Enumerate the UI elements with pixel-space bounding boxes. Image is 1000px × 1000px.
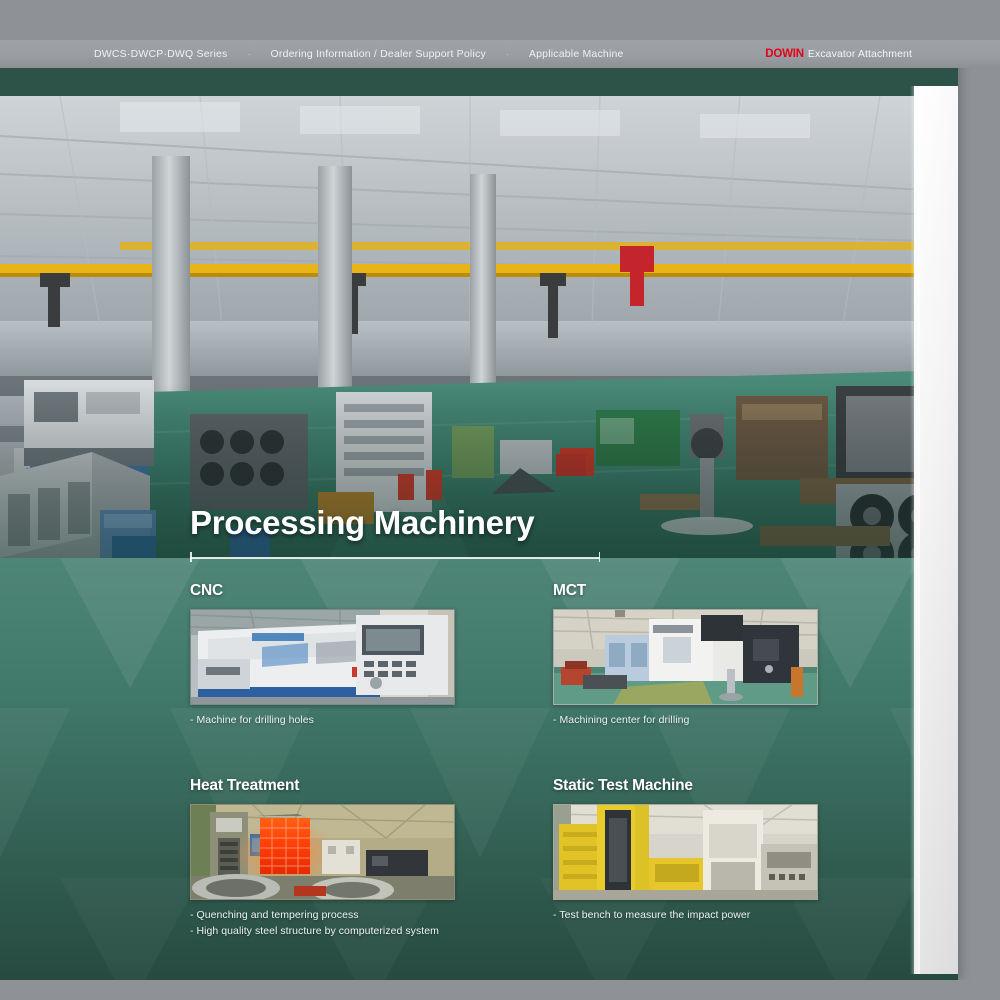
caption-line: - Machining center for drilling [553,712,818,728]
card-cnc: CNC [190,582,455,728]
canvas-top-margin [0,0,1000,40]
card-title: CNC [190,582,455,600]
machining-center-illustration [553,609,818,705]
card-caption: - Test bench to measure the impact power [553,907,818,923]
factory-floor-illustration [0,96,958,558]
caption-line: - Test bench to measure the impact power [553,907,818,923]
heat-treatment-illustration [190,804,455,900]
static-test-bench-photo: TESTER [553,804,818,900]
card-title: Static Test Machine [553,777,818,795]
brand-mark-dowin: DOWIN [765,48,804,60]
card-mct: MCT [553,582,818,728]
page-title: Processing Machinery [190,506,534,539]
title-tick-right [599,552,601,562]
caption-line: - Quenching and tempering process [190,907,455,923]
card-caption: - Machining center for drilling [553,712,818,728]
title-underline [190,552,600,562]
brochure-page: Processing Machinery [0,0,1000,1000]
card-static-test-machine: Static Test Machine [553,777,818,923]
top-nav-bar[interactable]: DWCS·DWCP·DWQ Series · Ordering Informat… [0,40,1000,68]
nav-item-series[interactable]: DWCS·DWCP·DWQ Series [94,48,228,60]
static-test-bench-illustration: TESTER [553,804,818,900]
hero-photo [0,96,958,558]
nav-item-applicable-machine[interactable]: Applicable Machine [529,48,624,60]
card-title: Heat Treatment [190,777,455,795]
caption-line: - High quality steel structure by comput… [190,923,455,939]
machining-center-photo [553,609,818,705]
cnc-lathe-photo [190,609,455,705]
brand-logo: DOWIN Excavator Attachment [765,48,912,60]
card-caption: - Machine for drilling holes [190,712,455,728]
nav-separator: · [248,49,251,59]
nav-item-ordering-information[interactable]: Ordering Information / Dealer Support Po… [271,48,486,60]
page-title-wrap: Processing Machinery [190,506,534,539]
page-edge-highlight [910,86,920,974]
nav-separator: · [506,49,509,59]
heat-treatment-furnace-photo [190,804,455,900]
page-sheet: Processing Machinery [0,28,958,980]
card-title: MCT [553,582,818,600]
canvas-bottom-margin [0,980,1000,1000]
title-rule-line [190,557,600,559]
caption-line: - Machine for drilling holes [190,712,455,728]
page-edge [914,86,958,974]
card-heat-treatment: Heat Treatment [190,777,455,940]
brand-tagline: Excavator Attachment [808,48,912,60]
card-caption: - Quenching and tempering process - High… [190,907,455,940]
nav-links[interactable]: DWCS·DWCP·DWQ Series · Ordering Informat… [94,48,624,60]
cnc-lathe-illustration [190,609,455,705]
